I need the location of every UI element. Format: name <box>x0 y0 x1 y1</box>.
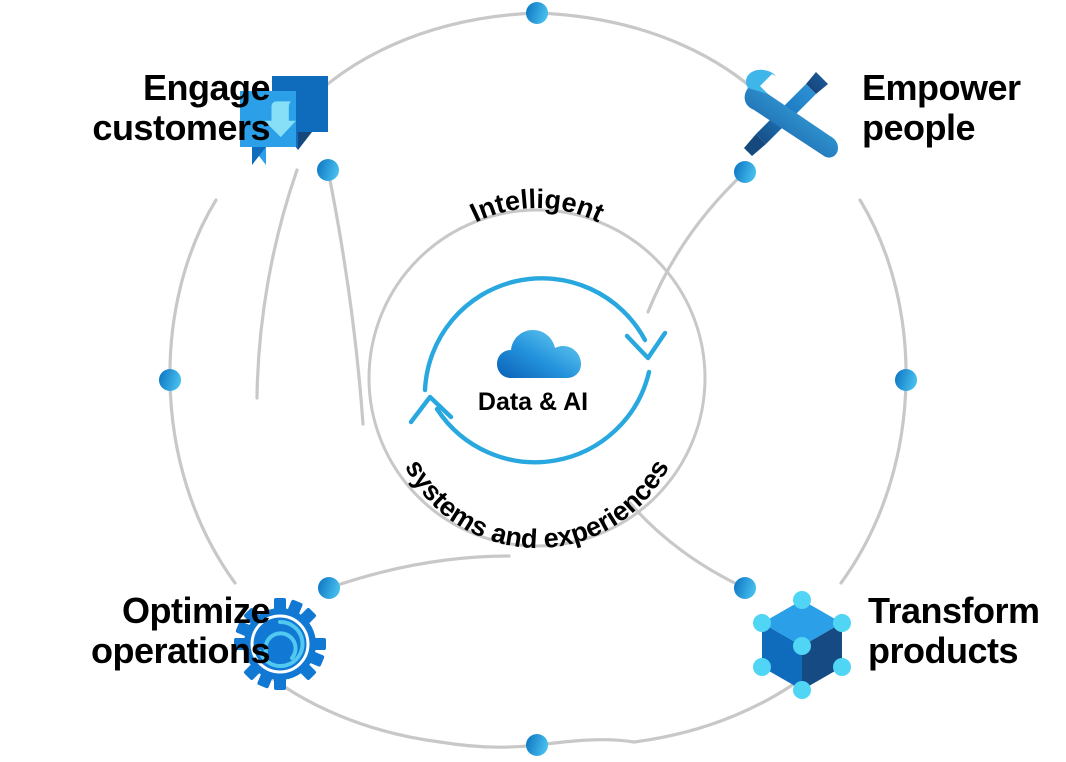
arc-text-systems-experiences: systems and experiences <box>399 454 675 554</box>
node-label-engage-customers: Engage customers <box>20 68 270 149</box>
ring-arc-left-lower <box>170 380 235 583</box>
node-label-optimize-operations: Optimize operations <box>10 591 270 672</box>
ring-arc-left-upper <box>170 200 216 380</box>
arrowhead-right-down <box>627 333 665 358</box>
spiral-arm-top-right <box>648 172 745 312</box>
chat-bubble-back-tail <box>298 132 312 150</box>
diagram-canvas: Intelligent systems and experiences <box>0 0 1066 762</box>
dot-inner-top-right <box>734 161 756 183</box>
spiral-arm-top-left <box>328 170 363 424</box>
dot-top <box>526 2 548 24</box>
wrench-screwdriver-icon <box>744 70 838 158</box>
spiral-arm-top-left-b <box>257 170 297 398</box>
spiral-arm-bottom-left <box>329 556 509 588</box>
dot-inner-bottom-left <box>318 577 340 599</box>
arc-text-intelligent: Intelligent <box>465 184 608 228</box>
node-label-transform-products: Transform products <box>868 591 1066 672</box>
dot-right <box>895 369 917 391</box>
dot-left <box>159 369 181 391</box>
dot-bottom <box>526 734 548 756</box>
cloud-icon <box>497 330 581 378</box>
cycle-arc-counter <box>437 372 649 462</box>
center-label-data-ai: Data & AI <box>433 388 633 417</box>
ring-arc-right-upper <box>860 200 906 380</box>
dot-inner-bottom-right <box>734 577 756 599</box>
node-label-empower-people: Empower people <box>862 68 1066 149</box>
spiral-arm-bottom-right <box>630 503 745 588</box>
dot-inner-top-left <box>317 159 339 181</box>
ring-arc-right-lower <box>841 380 906 583</box>
cube-icon <box>753 591 851 699</box>
